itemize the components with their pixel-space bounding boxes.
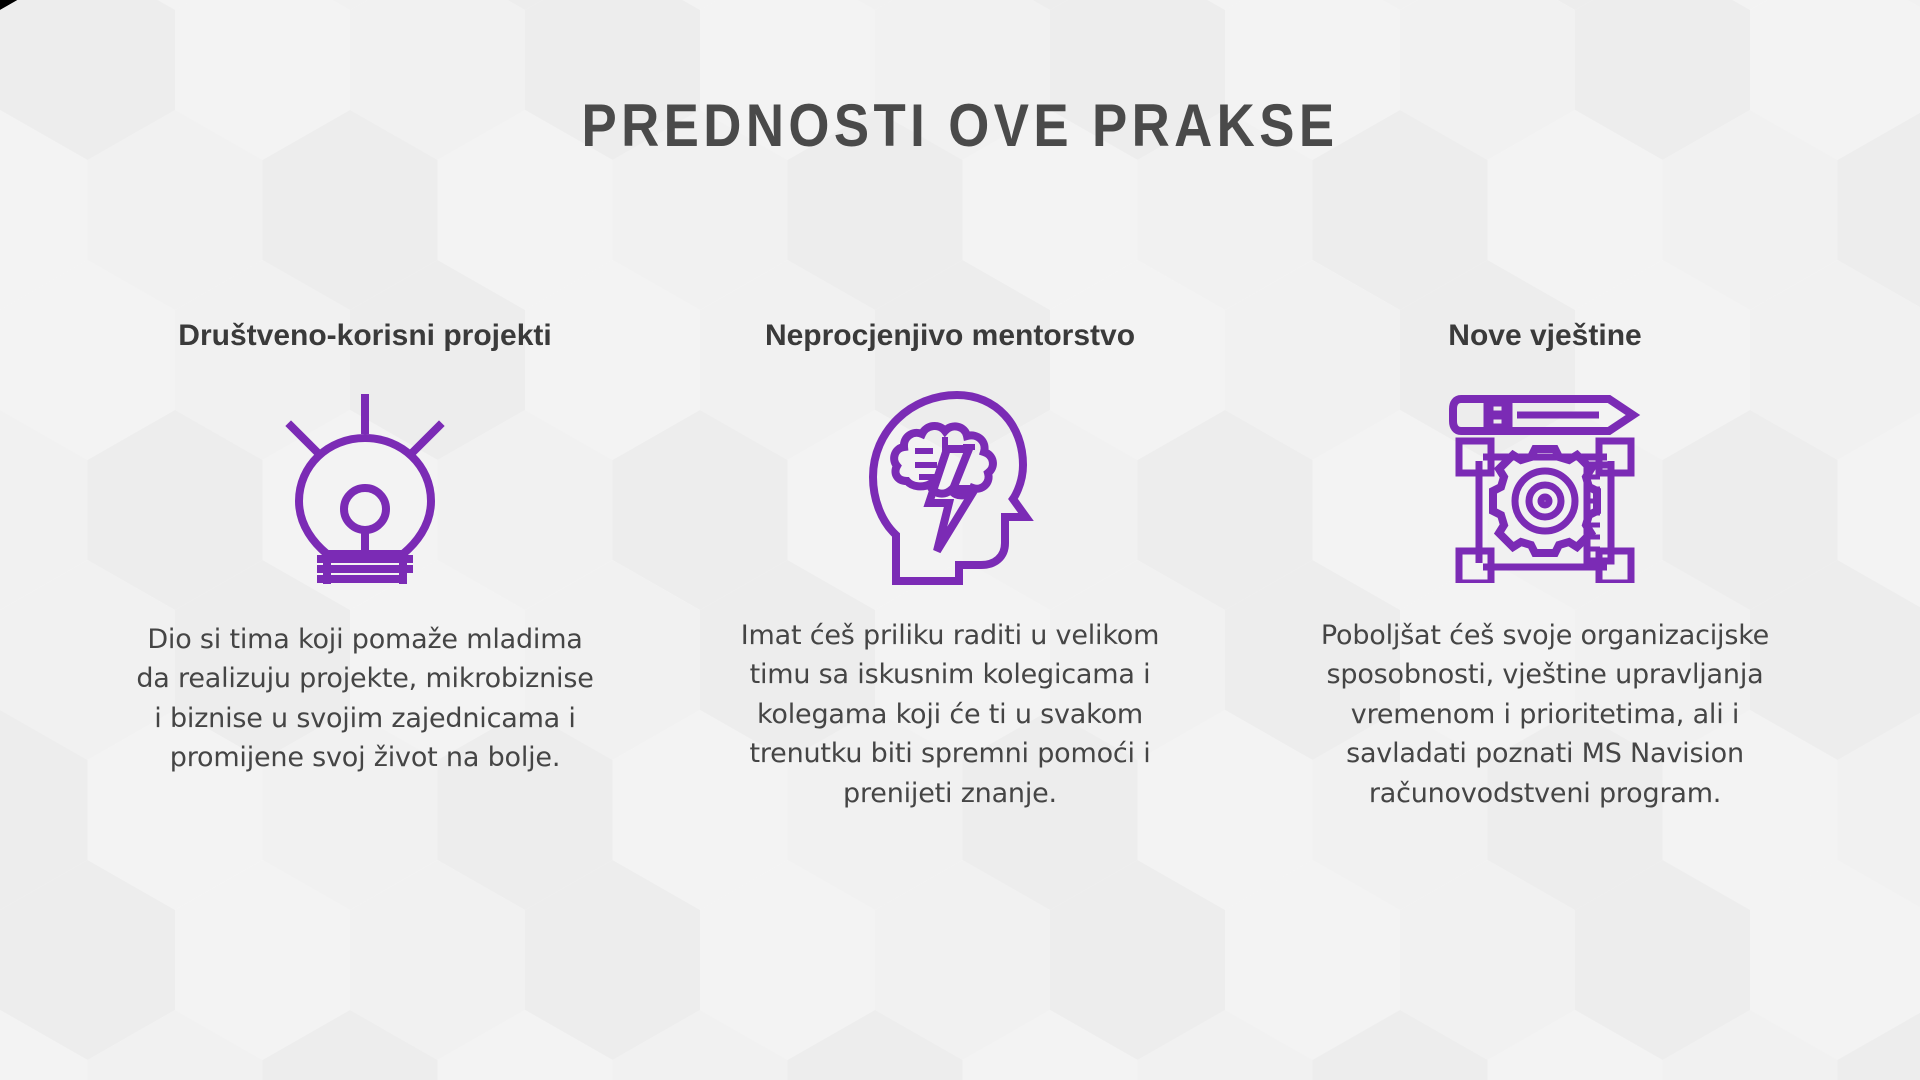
benefit-body: Poboljšat ćeš svoje organizacijske sposo… — [1310, 616, 1780, 813]
pencil-gear-ruler-icon — [1447, 380, 1643, 590]
page-title: PREDNOSTI OVE PRAKSE — [115, 96, 1805, 156]
benefit-column-projects: Društveno-korisni projekti — [65, 318, 665, 778]
benefit-body: Imat ćeš priliku raditi u velikom timu s… — [735, 616, 1165, 813]
benefit-body: Dio si tima koji pomaže mladima da reali… — [130, 620, 600, 778]
benefit-column-skills: Nove vještine — [1235, 318, 1855, 813]
benefit-heading: Društveno-korisni projekti — [178, 318, 551, 358]
benefit-heading: Nove vještine — [1448, 318, 1641, 358]
infographic-page: PREDNOSTI OVE PRAKSE Društveno-korisni p… — [0, 0, 1920, 1080]
benefit-column-mentorship: Neprocjenjivo mentorstvo — [665, 318, 1235, 813]
benefit-heading: Neprocjenjivo mentorstvo — [765, 318, 1135, 358]
benefits-columns: Društveno-korisni projekti — [0, 318, 1920, 813]
head-brain-lightning-icon — [863, 380, 1038, 590]
lightbulb-icon — [265, 384, 465, 594]
